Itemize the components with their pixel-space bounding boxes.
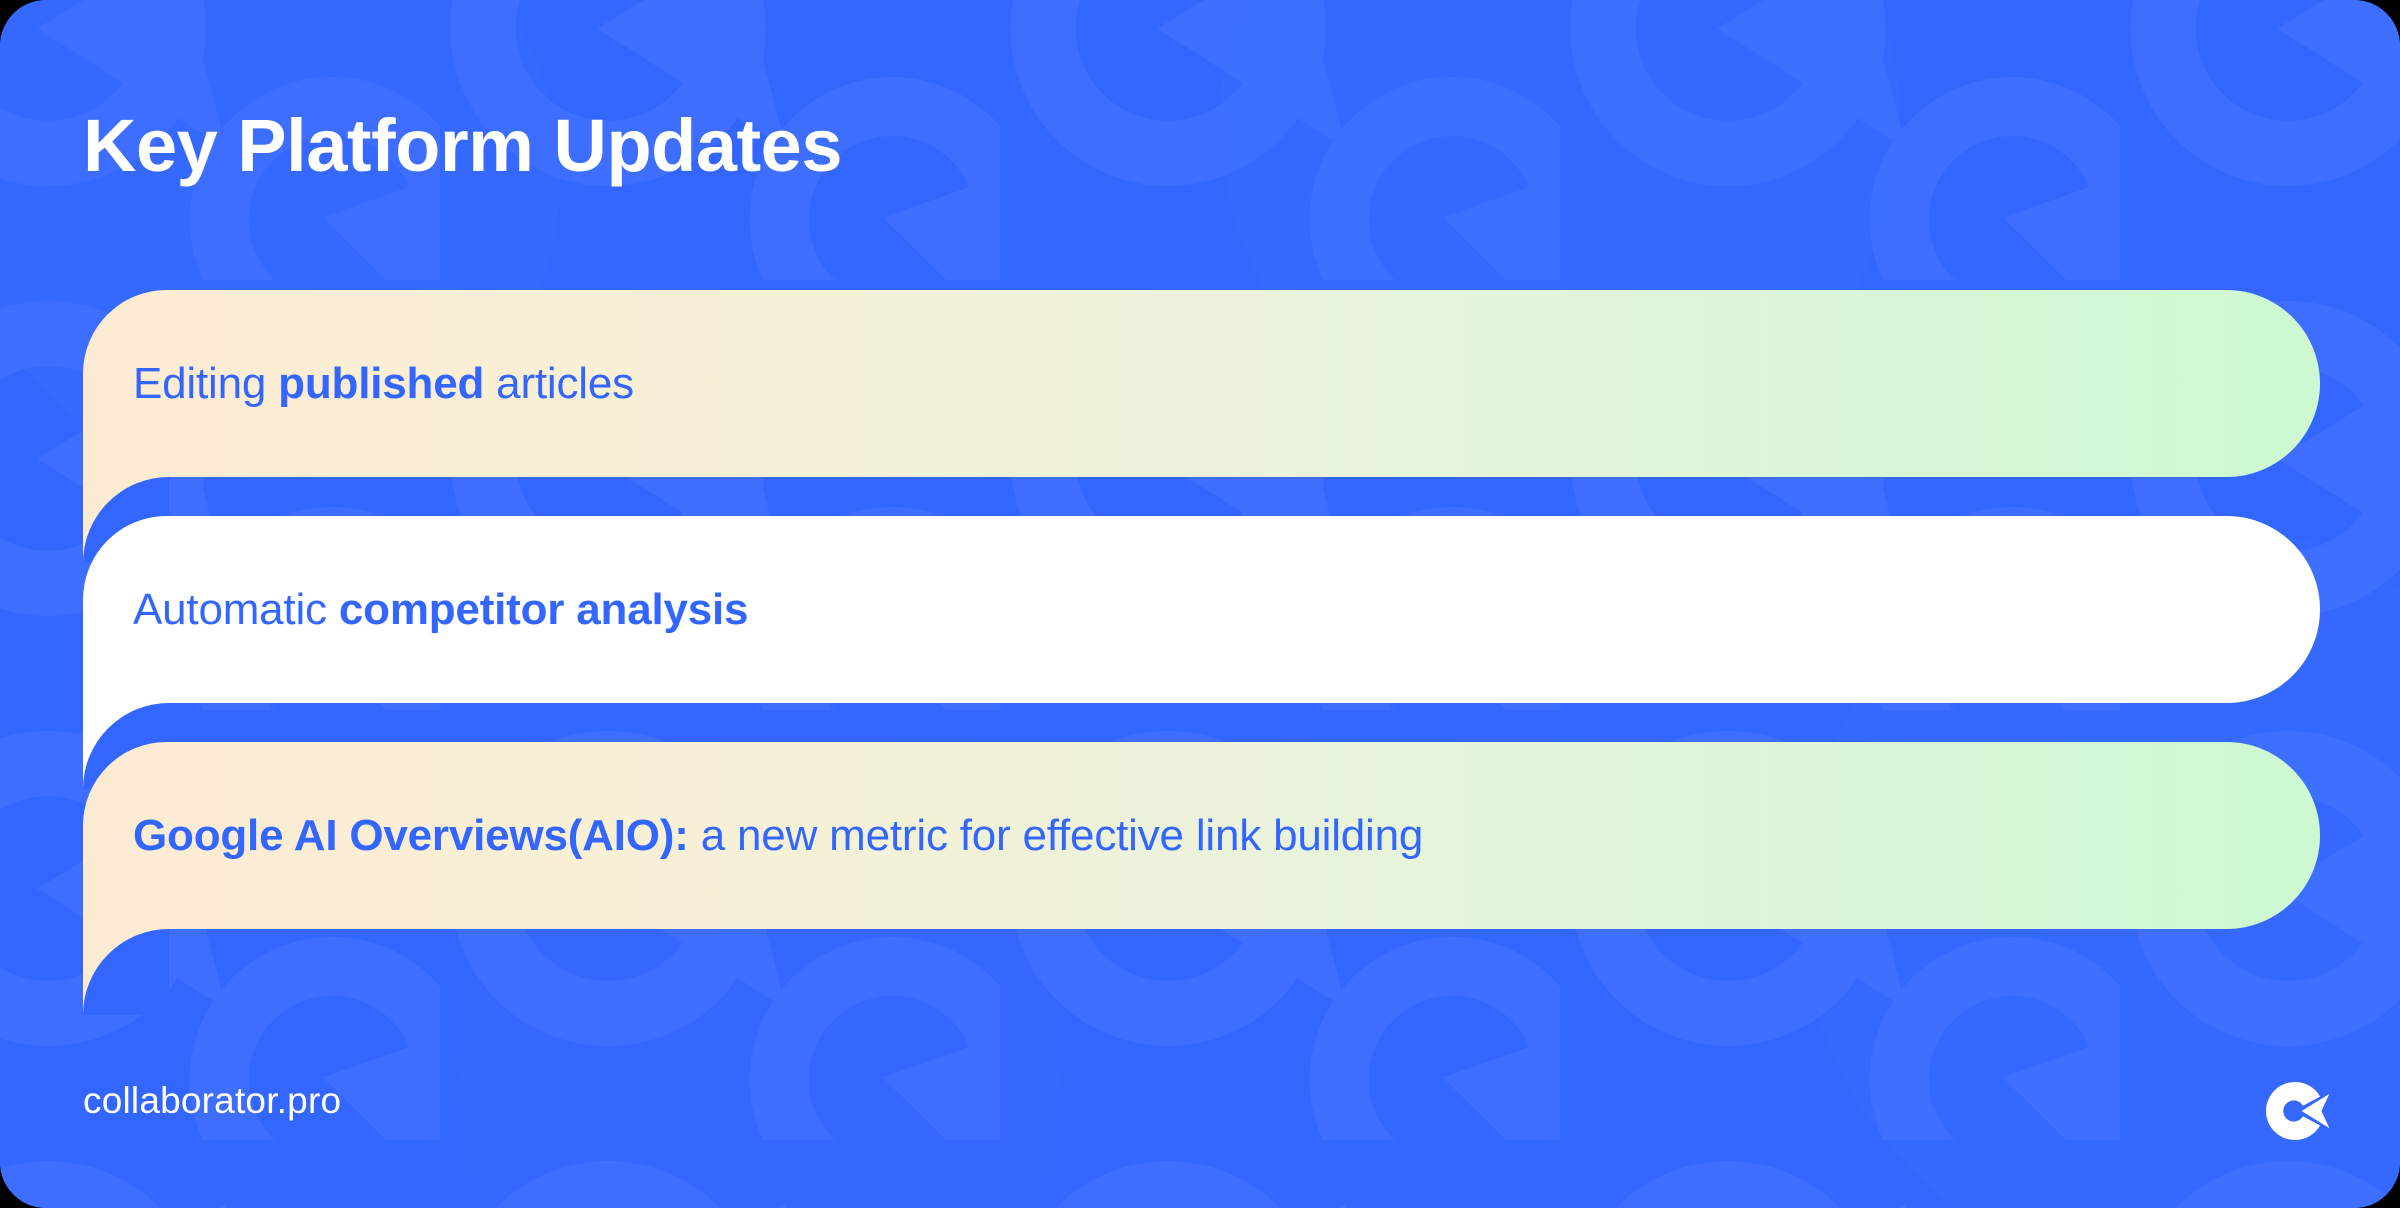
list-item-emphasis: competitor analysis bbox=[339, 585, 748, 634]
list-item[interactable]: Automatic competitor analysis bbox=[83, 516, 2320, 703]
list-item[interactable]: Editing published articles bbox=[83, 290, 2320, 477]
list-item-lead: Editing bbox=[133, 359, 278, 408]
slide-canvas: Key Platform Updates Editing published a… bbox=[0, 0, 2400, 1208]
list-item-trail: articles bbox=[484, 359, 634, 408]
list-item-label: Google AI Overviews(AIO): a new metric f… bbox=[133, 811, 1423, 861]
list-item-label: Editing published articles bbox=[133, 359, 634, 409]
list-item-lead: Automatic bbox=[133, 585, 339, 634]
list-item-emphasis: published bbox=[278, 359, 484, 408]
card-tail bbox=[83, 929, 169, 1015]
footer-url[interactable]: collaborator.pro bbox=[83, 1080, 341, 1122]
collaborator-logo-icon bbox=[2266, 1078, 2332, 1144]
list-item-emphasis: Google AI Overviews(AIO): bbox=[133, 811, 689, 860]
list-item[interactable]: Google AI Overviews(AIO): a new metric f… bbox=[83, 742, 2320, 929]
updates-list: Editing published articles Automatic com… bbox=[83, 290, 2320, 929]
page-title: Key Platform Updates bbox=[83, 102, 842, 189]
list-item-label: Automatic competitor analysis bbox=[133, 585, 748, 635]
list-item-trail: a new metric for effective link building bbox=[689, 811, 1423, 860]
